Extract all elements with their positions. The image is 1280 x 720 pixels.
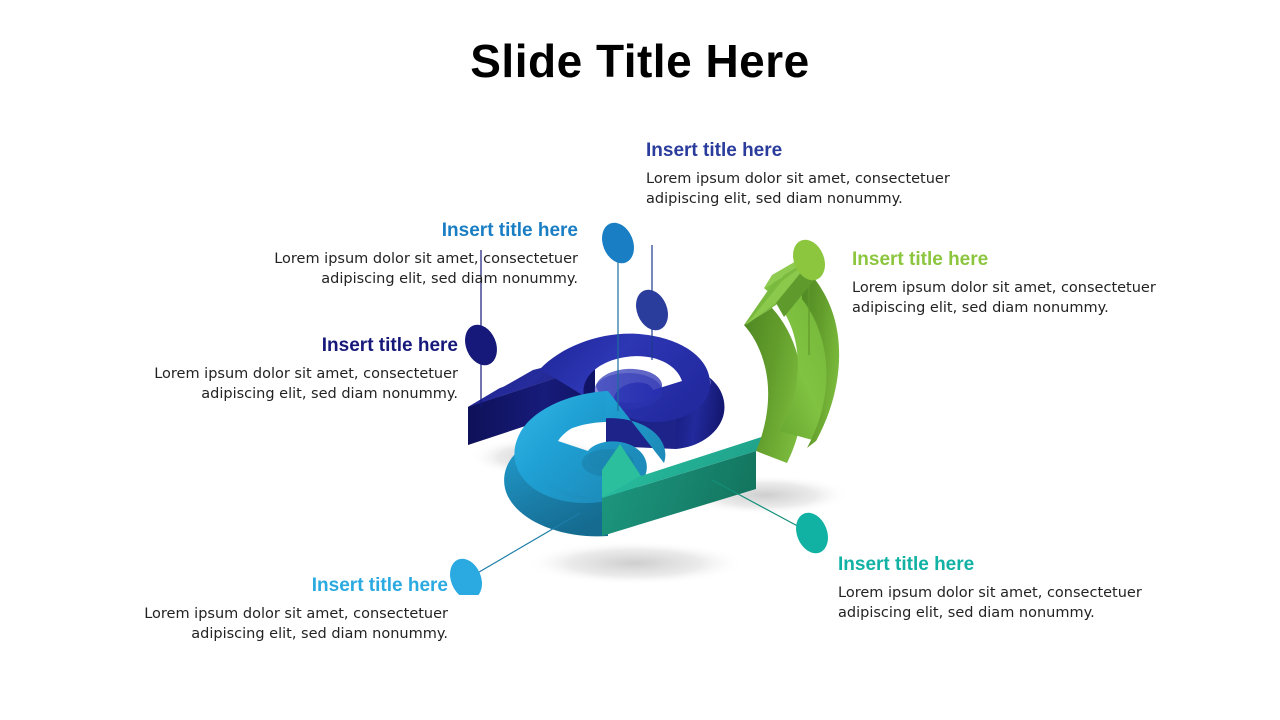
callout-upper-left: Insert title here Lorem ipsum dolor sit … xyxy=(258,219,578,290)
callout-left: Insert title here Lorem ipsum dolor sit … xyxy=(138,334,458,405)
callout-title: Insert title here xyxy=(646,139,966,163)
callout-body: Lorem ipsum dolor sit amet, consectetuer… xyxy=(838,583,1148,624)
callout-bottom-left: Insert title here Lorem ipsum dolor sit … xyxy=(128,574,448,645)
callout-body: Lorem ipsum dolor sit amet, consectetuer… xyxy=(128,604,448,645)
callout-body: Lorem ipsum dolor sit amet, consectetuer… xyxy=(138,364,458,405)
callout-title: Insert title here xyxy=(838,553,1148,577)
callout-title: Insert title here xyxy=(258,219,578,243)
callout-title: Insert title here xyxy=(128,574,448,598)
ellipse-marker-cyan xyxy=(444,554,488,595)
ellipse-marker-teal xyxy=(790,508,834,558)
page-title: Slide Title Here xyxy=(0,36,1280,87)
callout-title: Insert title here xyxy=(852,248,1162,272)
callout-body: Lorem ipsum dolor sit amet, consectetuer… xyxy=(852,278,1162,319)
slide-canvas: Slide Title Here xyxy=(0,0,1280,720)
ellipse-marker-navy xyxy=(459,320,503,370)
callout-body: Lorem ipsum dolor sit amet, consectetuer… xyxy=(646,169,966,210)
ellipse-marker-blue xyxy=(630,285,674,335)
callout-body: Lorem ipsum dolor sit amet, consectetuer… xyxy=(258,249,578,290)
callout-title: Insert title here xyxy=(138,334,458,358)
segment-right-arm xyxy=(744,253,839,463)
callout-right: Insert title here Lorem ipsum dolor sit … xyxy=(852,248,1162,319)
ellipse-marker-lightblue xyxy=(596,218,640,268)
callout-top: Insert title here Lorem ipsum dolor sit … xyxy=(646,139,966,210)
callout-bottom-right: Insert title here Lorem ipsum dolor sit … xyxy=(838,553,1148,624)
